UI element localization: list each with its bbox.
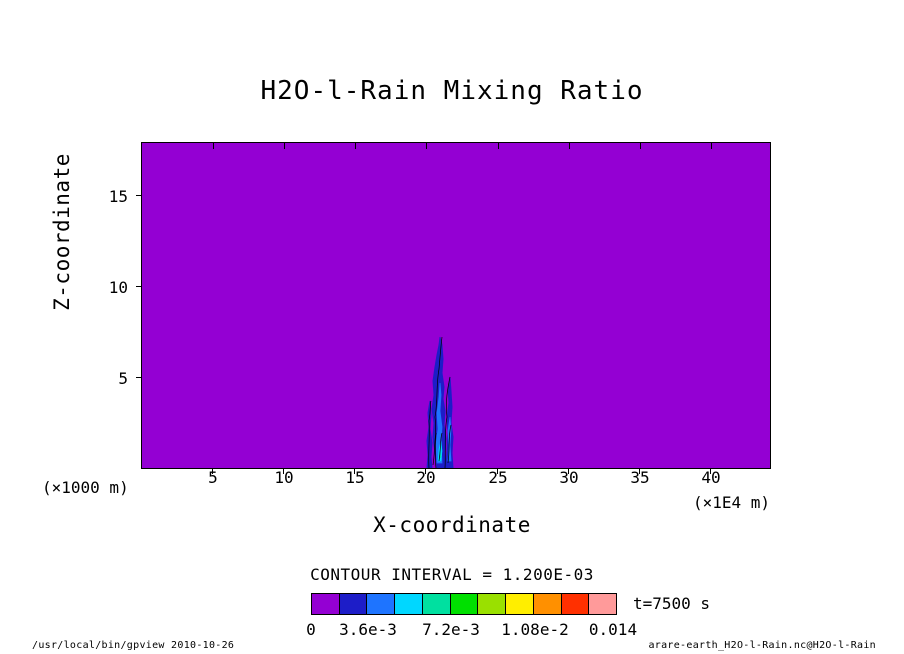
y-axis-unit: (×1000 m) (42, 478, 129, 497)
colorbar-cell (451, 594, 479, 614)
plot-area (141, 142, 771, 469)
colorbar-tick-label: 3.6e-3 (328, 620, 408, 639)
y-tick-label: 10 (88, 278, 128, 297)
colorbar-cell (395, 594, 423, 614)
x-tick-label: 10 (264, 468, 304, 487)
colorbar-tick-label: 0.014 (573, 620, 653, 639)
colorbar-cell (534, 594, 562, 614)
x-tick-top (711, 143, 712, 149)
rain-contour-feature (415, 333, 467, 468)
y-tick-label: 15 (88, 187, 128, 206)
y-tick (136, 195, 142, 196)
colorbar (311, 593, 617, 615)
x-tick-label: 30 (549, 468, 589, 487)
x-tick-top (355, 143, 356, 149)
y-tick (136, 377, 142, 378)
y-tick (136, 286, 142, 287)
colorbar-tick-labels: 0 3.6e-3 7.2e-3 1.08e-2 0.014 (311, 620, 617, 638)
colorbar-cell (562, 594, 590, 614)
x-tick-top (640, 143, 641, 149)
x-axis-unit: (×1E4 m) (693, 493, 770, 512)
colorbar-cell (589, 594, 616, 614)
colorbar-cell (367, 594, 395, 614)
x-tick-top (569, 143, 570, 149)
x-tick-label: 5 (193, 468, 233, 487)
x-tick-label: 40 (691, 468, 731, 487)
colorbar-tick-label: 7.2e-3 (411, 620, 491, 639)
y-tick-label: 5 (88, 369, 128, 388)
x-tick-label: 35 (620, 468, 660, 487)
x-tick-top (284, 143, 285, 149)
colorbar-cell (312, 594, 340, 614)
colorbar-cell (478, 594, 506, 614)
x-tick-top (498, 143, 499, 149)
colorbar-cell (506, 594, 534, 614)
x-tick-top (426, 143, 427, 149)
x-tick-label: 25 (478, 468, 518, 487)
footer-command-label: /usr/local/bin/gpview 2010-10-26 (32, 640, 234, 651)
time-label: t=7500 s (633, 594, 710, 613)
colorbar-cell (423, 594, 451, 614)
x-tick-top (213, 143, 214, 149)
colorbar-tick-label: 1.08e-2 (495, 620, 575, 639)
x-tick-label: 15 (335, 468, 375, 487)
page-title: H2O-l-Rain Mixing Ratio (0, 76, 904, 106)
footer-source-label: arare-earth_H2O-l-Rain.nc@H2O-l-Rain (648, 640, 876, 651)
contour-interval-label: CONTOUR INTERVAL = 1.200E-03 (0, 565, 904, 584)
colorbar-cell (340, 594, 368, 614)
y-axis-title: Z-coordinate (50, 132, 74, 332)
x-axis-title: X-coordinate (0, 513, 904, 537)
x-tick-label: 20 (406, 468, 446, 487)
